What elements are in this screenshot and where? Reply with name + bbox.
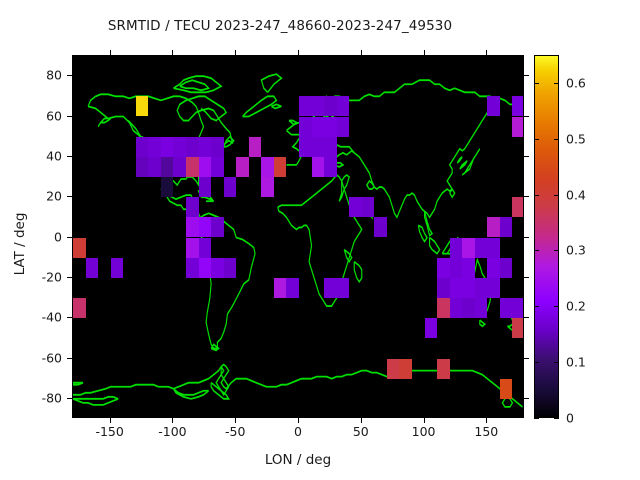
x-tick-label: 0 xyxy=(294,424,302,439)
heatmap-cell xyxy=(512,96,524,116)
x-tick xyxy=(110,50,111,55)
heatmap-cell xyxy=(211,258,224,278)
heatmap-cell xyxy=(450,278,463,298)
x-tick xyxy=(298,50,299,55)
y-tick xyxy=(67,156,72,157)
x-tick xyxy=(172,50,173,55)
heatmap-cell xyxy=(186,238,199,258)
y-tick xyxy=(524,156,529,157)
heatmap-cell xyxy=(475,238,488,258)
colorbar-tick xyxy=(534,139,539,140)
heatmap-cell xyxy=(312,137,325,157)
y-tick xyxy=(67,116,72,117)
page-title: SRMTID / TECU 2023-247_48660-2023-247_49… xyxy=(0,18,560,34)
heatmap-cell xyxy=(500,298,513,318)
heatmap-cell xyxy=(261,157,274,177)
colorbar-tick xyxy=(534,362,539,363)
colorbar-tick xyxy=(554,362,559,363)
heatmap-cell xyxy=(136,157,149,177)
heatmap-cell xyxy=(437,298,450,318)
y-tick xyxy=(67,358,72,359)
y-tick xyxy=(524,277,529,278)
colorbar-tick xyxy=(554,139,559,140)
colorbar-tick xyxy=(554,195,559,196)
heatmap-cell xyxy=(161,137,174,157)
heatmap-cell xyxy=(199,177,212,197)
heatmap-cell xyxy=(211,157,224,177)
heatmap-cell xyxy=(199,217,212,237)
y-tick xyxy=(67,75,72,76)
x-tick-label: 100 xyxy=(412,424,436,439)
heatmap-cell xyxy=(374,217,387,237)
heatmap-cell xyxy=(211,137,224,157)
x-tick xyxy=(424,50,425,55)
y-axis-label: LAT / deg xyxy=(12,164,28,324)
heatmap-cell xyxy=(186,137,199,157)
x-tick xyxy=(298,418,299,423)
heatmap-cell xyxy=(312,96,325,116)
heatmap-cell xyxy=(450,258,463,278)
heatmap-cell xyxy=(312,117,325,137)
heatmap-cell xyxy=(362,197,375,217)
heatmap-cell xyxy=(512,117,524,137)
colorbar-tick xyxy=(554,418,559,419)
heatmap-cell xyxy=(173,157,186,177)
x-axis-label: LON / deg xyxy=(72,452,524,468)
x-tick xyxy=(361,50,362,55)
y-tick xyxy=(67,277,72,278)
heatmap-cell xyxy=(512,197,524,217)
y-tick xyxy=(67,196,72,197)
heatmap-cell xyxy=(211,217,224,237)
colorbar-tick-label: 0.3 xyxy=(566,243,586,258)
colorbar-tick xyxy=(534,306,539,307)
colorbar-tick-label: 0.2 xyxy=(566,299,586,314)
heatmap-cell xyxy=(299,96,312,116)
heatmap-cell xyxy=(324,137,337,157)
heatmap-cell xyxy=(324,278,337,298)
x-tick-label: 150 xyxy=(474,424,498,439)
heatmap-cell xyxy=(73,298,86,318)
colorbar-tick xyxy=(534,195,539,196)
heatmap-cell xyxy=(186,217,199,237)
x-tick xyxy=(235,418,236,423)
heatmap-cell xyxy=(462,298,475,318)
y-tick xyxy=(524,196,529,197)
heatmap-cell xyxy=(387,359,400,379)
heatmap-cell xyxy=(111,258,124,278)
heatmap-cell xyxy=(450,298,463,318)
heatmap-cell xyxy=(512,318,524,338)
y-tick xyxy=(524,358,529,359)
heatmap-cell xyxy=(500,258,513,278)
heatmap-cell xyxy=(249,137,262,157)
heatmap-cell xyxy=(487,278,500,298)
heatmap-cell xyxy=(337,278,350,298)
heatmap-cell xyxy=(199,157,212,177)
heatmap-cell xyxy=(487,258,500,278)
heatmap-cell xyxy=(299,117,312,137)
y-tick-label: 80 xyxy=(14,68,62,83)
heatmap-cell xyxy=(437,278,450,298)
heatmap-cell xyxy=(324,157,337,177)
colorbar-tick-label: 0.1 xyxy=(566,355,586,370)
x-tick xyxy=(486,418,487,423)
heatmap-cell xyxy=(324,96,337,116)
heatmap-cell xyxy=(399,359,412,379)
heatmap-cell xyxy=(349,197,362,217)
heatmap-cell xyxy=(173,137,186,157)
heatmap-cell xyxy=(224,177,237,197)
heatmap-cell xyxy=(437,258,450,278)
heatmap-cell xyxy=(337,96,350,116)
heatmap-cell xyxy=(475,298,488,318)
heatmap-cell xyxy=(236,157,249,177)
colorbar-tick xyxy=(554,250,559,251)
x-tick xyxy=(172,418,173,423)
colorbar-tick xyxy=(554,306,559,307)
y-tick xyxy=(67,398,72,399)
heatmap-cell xyxy=(186,157,199,177)
heatmap-cell xyxy=(487,217,500,237)
x-tick-label: 50 xyxy=(353,424,369,439)
heatmap-cell xyxy=(73,238,86,258)
heatmap-cell xyxy=(299,137,312,157)
heatmap-cell xyxy=(337,117,350,137)
colorbar-tick xyxy=(534,418,539,419)
x-tick-label: -150 xyxy=(95,424,123,439)
heatmap-cell xyxy=(500,379,513,399)
colorbar-tick-label: 0.4 xyxy=(566,187,586,202)
data-cell-layer xyxy=(73,56,524,418)
y-tick-label: -60 xyxy=(14,350,62,365)
heatmap-cell xyxy=(161,157,174,177)
x-tick-label: -50 xyxy=(225,424,245,439)
heatmap-cell xyxy=(148,137,161,157)
y-tick xyxy=(67,317,72,318)
heatmap-cell xyxy=(136,137,149,157)
colorbar[interactable] xyxy=(534,55,559,418)
x-tick xyxy=(110,418,111,423)
colorbar-tick xyxy=(554,83,559,84)
heatmap-cell xyxy=(224,258,237,278)
heatmap-cell xyxy=(274,278,287,298)
heatmap-cell xyxy=(199,137,212,157)
heatmap-cell xyxy=(199,238,212,258)
heatmap-cell xyxy=(462,278,475,298)
heatmap-cell xyxy=(475,278,488,298)
map-plot-area[interactable] xyxy=(72,55,524,418)
heatmap-cell xyxy=(199,258,212,278)
y-tick xyxy=(524,317,529,318)
y-tick xyxy=(524,237,529,238)
heatmap-cell xyxy=(86,258,99,278)
colorbar-tick-label: 0.5 xyxy=(566,131,586,146)
heatmap-cell xyxy=(462,238,475,258)
heatmap-cell xyxy=(286,278,299,298)
heatmap-cell xyxy=(261,177,274,197)
heatmap-cell xyxy=(312,157,325,177)
y-tick xyxy=(524,116,529,117)
x-tick xyxy=(486,50,487,55)
y-tick xyxy=(524,398,529,399)
heatmap-cell xyxy=(462,258,475,278)
x-tick xyxy=(424,418,425,423)
heatmap-cell xyxy=(186,258,199,278)
x-tick-label: -100 xyxy=(158,424,186,439)
heatmap-cell xyxy=(324,117,337,137)
x-tick xyxy=(361,418,362,423)
colorbar-tick-label: 0 xyxy=(566,411,574,426)
heatmap-cell xyxy=(512,298,524,318)
y-tick-label: 40 xyxy=(14,148,62,163)
heatmap-cell xyxy=(450,238,463,258)
y-tick xyxy=(67,237,72,238)
y-tick-label: -80 xyxy=(14,390,62,405)
heatmap-cell xyxy=(437,359,450,379)
heatmap-cell xyxy=(487,238,500,258)
colorbar-tick xyxy=(534,83,539,84)
heatmap-cell xyxy=(274,157,287,177)
heatmap-cell xyxy=(425,318,438,338)
heatmap-cell xyxy=(148,157,161,177)
heatmap-cell xyxy=(136,96,149,116)
colorbar-tick xyxy=(534,250,539,251)
x-tick xyxy=(235,50,236,55)
colorbar-tick-label: 0.6 xyxy=(566,75,586,90)
y-tick xyxy=(524,75,529,76)
heatmap-cell xyxy=(500,217,513,237)
heatmap-cell xyxy=(186,197,199,217)
figure-root: SRMTID / TECU 2023-247_48660-2023-247_49… xyxy=(0,0,640,480)
heatmap-cell xyxy=(161,177,174,197)
y-tick-label: 60 xyxy=(14,108,62,123)
heatmap-cell xyxy=(487,96,500,116)
